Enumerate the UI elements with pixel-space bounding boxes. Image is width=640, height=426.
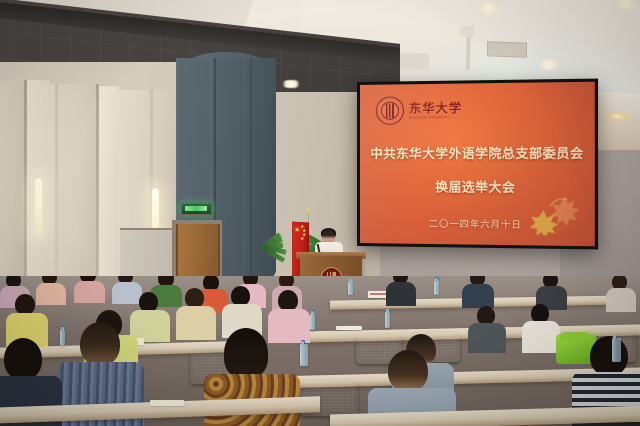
slide-date: 二〇一四年六月十日: [360, 216, 595, 232]
wall-panel: [0, 82, 26, 308]
ceiling-light-icon: [610, 0, 640, 10]
water-bottle: [310, 314, 315, 330]
balcony-pipe-fitting: [460, 26, 474, 37]
maple-leaf-icon: [527, 190, 582, 236]
water-bottle: [434, 281, 439, 295]
projection-screen-frame: 东华大学 DONGHUA UNIVERSITY 中共东华大学外语学院总支部委员会…: [357, 79, 598, 250]
column-seam: [250, 58, 252, 288]
conference-hall-photo: 东华大学 DONGHUA UNIVERSITY 中共东华大学外语学院总支部委员会…: [0, 0, 640, 426]
audience-seating-area: [0, 276, 640, 426]
balcony-vent-icon: [487, 41, 527, 57]
university-seal-icon: [376, 96, 404, 124]
document-paper: [150, 400, 184, 406]
slide-text-block: 中共东华大学外语学院总支部委员会 换届选举大会 二〇一四年六月十日: [360, 142, 595, 232]
ceiling-light-icon: [536, 60, 562, 70]
ceiling-light-icon: [280, 80, 302, 88]
water-bottle: [348, 282, 353, 295]
balcony-panel: [395, 52, 429, 69]
water-bottle: [385, 312, 390, 328]
wall-panel-seam: [55, 84, 58, 308]
slide-logo: 东华大学 DONGHUA UNIVERSITY: [376, 96, 462, 125]
document-paper: [336, 326, 362, 330]
emergency-exit-sign: [181, 203, 212, 215]
backpack-handle: [560, 332, 590, 340]
name-plate: [368, 291, 388, 298]
slide-title-line-1: 中共东华大学外语学院总支部委员会: [360, 142, 595, 162]
projection-screen: 东华大学 DONGHUA UNIVERSITY 中共东华大学外语学院总支部委员会…: [360, 82, 595, 247]
ceiling-light-icon: [472, 2, 506, 15]
university-name-cn: 东华大学: [409, 101, 462, 114]
wall-panel: [99, 86, 119, 308]
water-bottle: [612, 338, 621, 362]
slide-title-line-2: 换届选举大会: [360, 176, 595, 196]
water-bottle: [60, 330, 65, 346]
water-bottle: [300, 344, 308, 366]
wall-sconce-light: [35, 178, 42, 236]
downlight-icon: [604, 112, 630, 121]
university-name-en: DONGHUA UNIVERSITY: [409, 116, 462, 119]
